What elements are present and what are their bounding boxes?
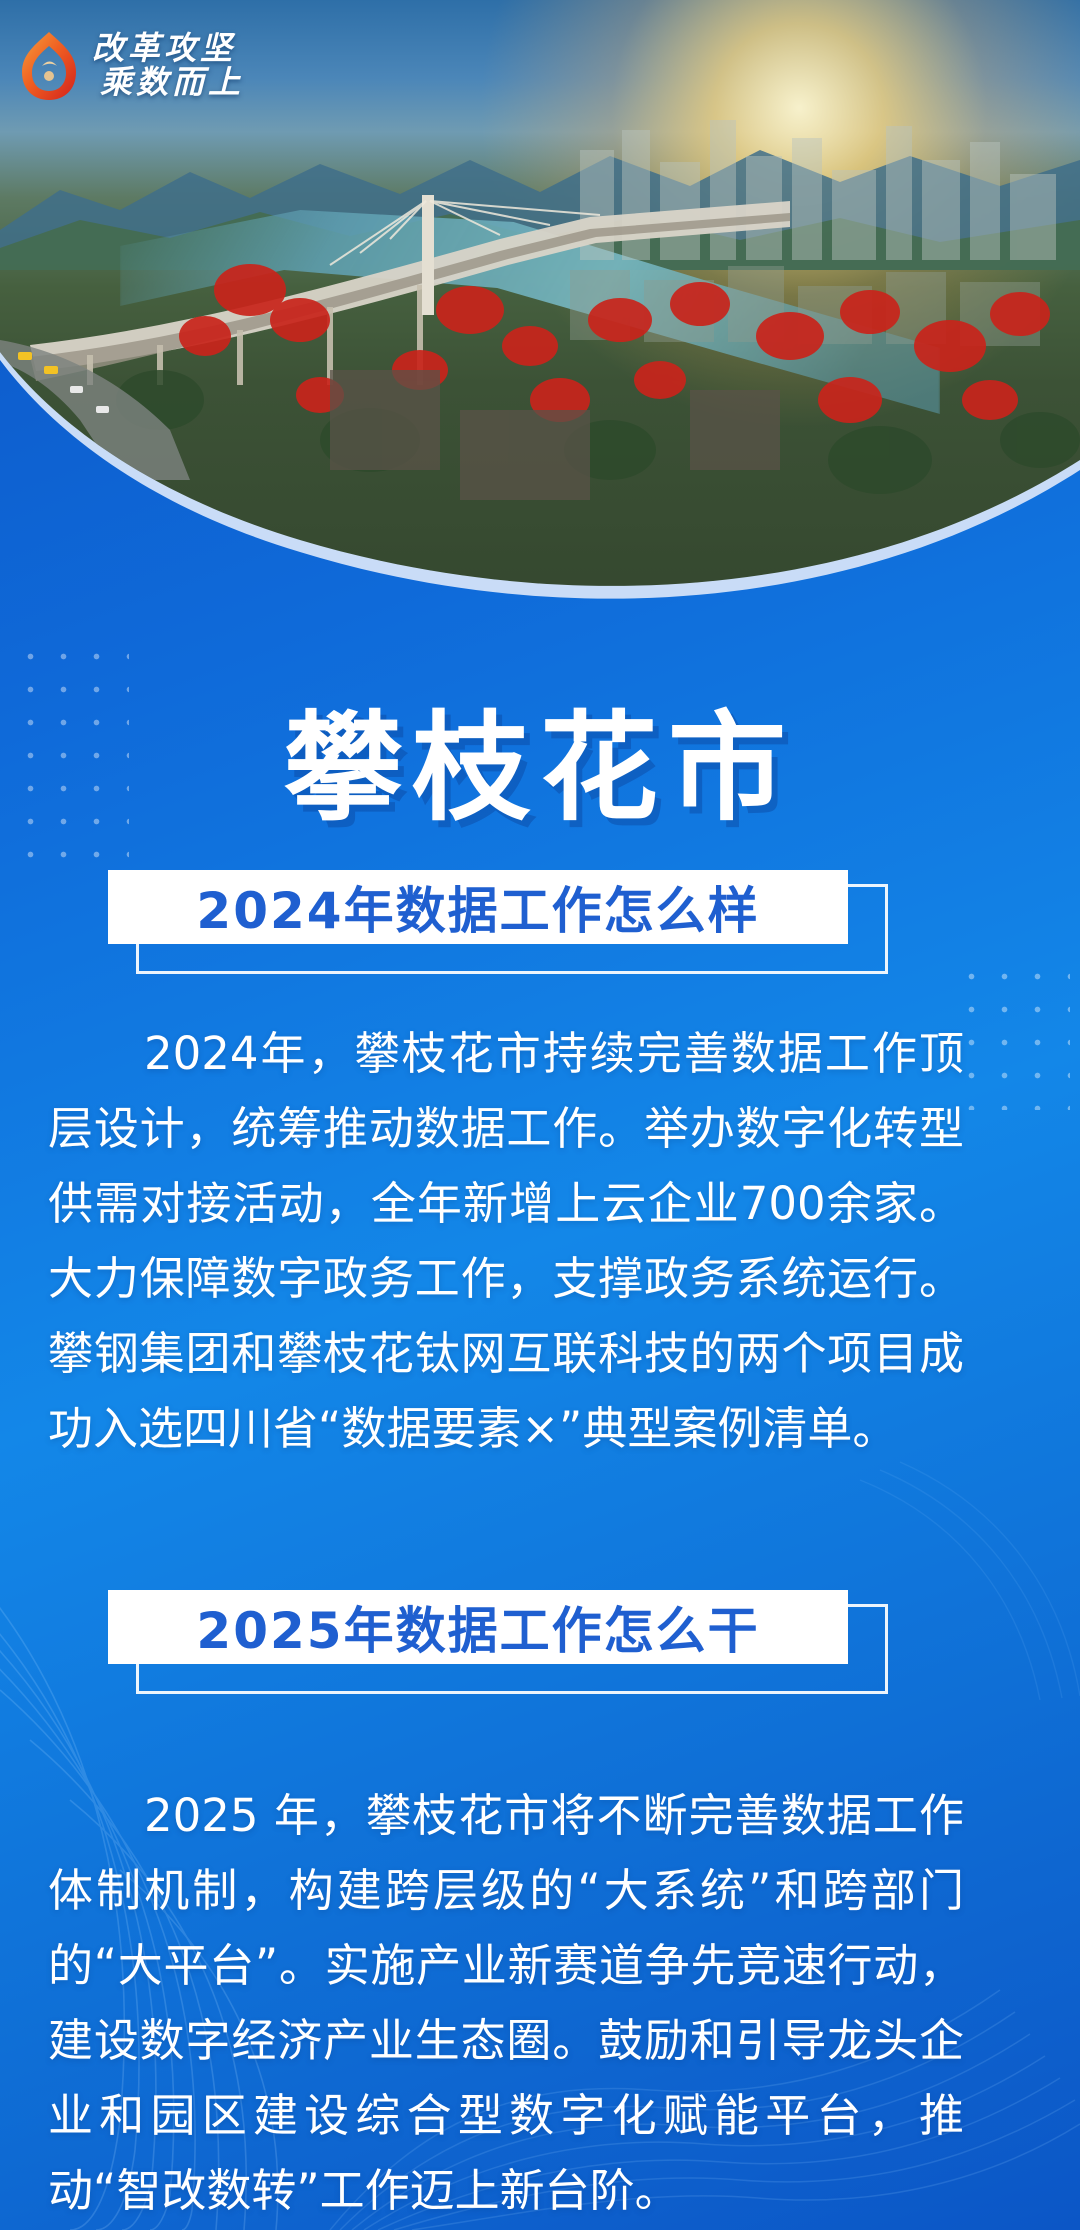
section-body-2024: 2024年，攀枝花市持续完善数据工作顶层设计，统筹推动数据工作。举办数字化转型供…	[48, 1016, 964, 1466]
section-banner-2025: 2025年数据工作怎么干	[108, 1590, 888, 1694]
page-title: 攀枝花市	[0, 672, 1080, 843]
banner-label-2025: 2025年数据工作怎么干	[108, 1590, 848, 1664]
logo-line-2: 乘数而上	[92, 66, 244, 100]
dot-grid-right	[955, 960, 1070, 1110]
section-banner-2024: 2024年数据工作怎么样	[108, 870, 888, 974]
brand-logo: 改革攻坚 乘数而上	[18, 20, 318, 112]
poster-root: 改革攻坚 乘数而上 攀枝花市 2024年数据工作怎么样 2024年，攀枝花市持续…	[0, 0, 1080, 2230]
flame-logo-icon	[18, 30, 80, 102]
road-with-cars	[0, 300, 260, 480]
section-body-2025: 2025 年，攀枝花市将不断完善数据工作体制机制，构建跨层级的“大系统”和跨部门…	[48, 1778, 964, 2228]
banner-label-2024: 2024年数据工作怎么样	[108, 870, 848, 944]
logo-line-1: 改革攻坚	[92, 32, 244, 66]
